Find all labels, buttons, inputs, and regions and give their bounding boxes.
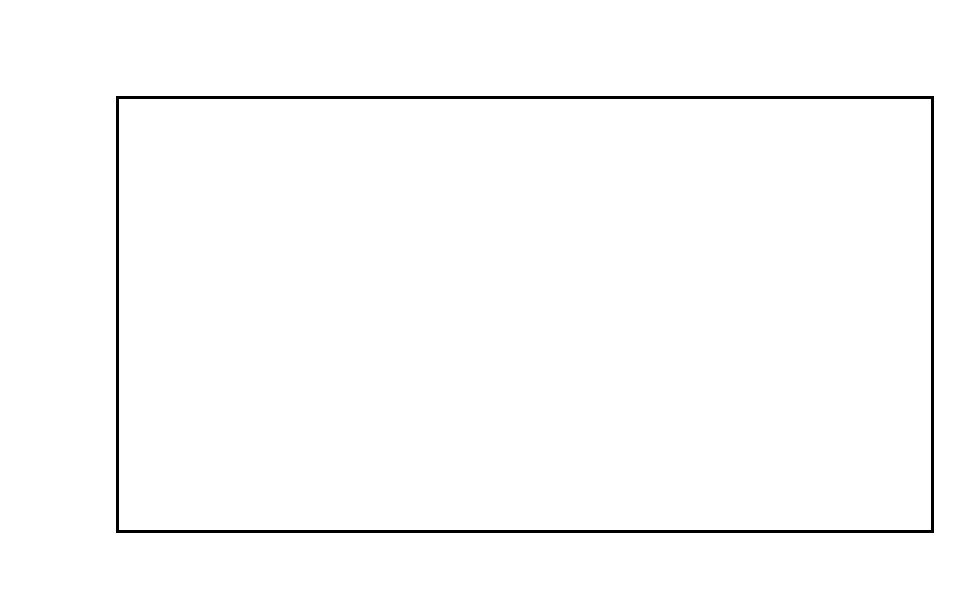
y-axis-tick-labels xyxy=(0,0,106,615)
plot-area[interactable] xyxy=(116,96,934,533)
plot-canvas xyxy=(116,96,934,533)
chart-title-block xyxy=(0,0,963,92)
legend xyxy=(581,13,941,88)
x-axis-tick-labels xyxy=(0,545,963,577)
